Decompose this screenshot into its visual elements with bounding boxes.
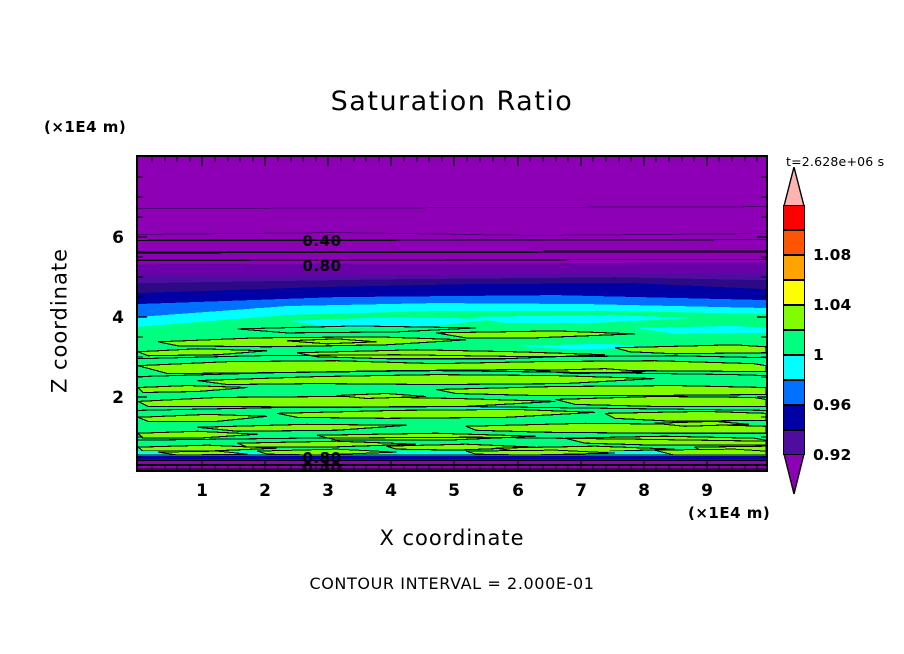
colorbar-cell-5[interactable] [783,330,805,355]
x-tick-label-9: 9 [697,481,717,501]
colorbar-bottom-cap [783,453,805,495]
x-tick-label-6: 6 [508,481,528,501]
colorbar-label-108: 1.08 [813,246,851,264]
colorbar-cell-8[interactable] [783,405,805,430]
colorbar-cell-4[interactable] [783,305,805,330]
x-tick-label-7: 7 [571,481,591,501]
x-axis-title: X coordinate [136,528,768,549]
y-axis-unit-label: (×1E4 m) [44,120,126,135]
x-tick-label-2: 2 [255,481,275,501]
contour-label-040-upper: 0.40 [302,232,341,250]
colorbar-cell-1[interactable] [783,230,805,255]
x-axis-unit-label: (×1E4 m) [688,506,770,521]
colorbar-cell-6[interactable] [783,355,805,380]
y-tick-label-4: 4 [108,308,128,328]
colorbar-label-100: 1 [813,346,824,364]
contour-interval-caption: CONTOUR INTERVAL = 2.000E-01 [0,576,904,592]
contour-field [138,157,766,472]
colorbar-cell-3[interactable] [783,280,805,305]
colorbar-label-104: 1.04 [813,296,851,314]
colorbar[interactable]: 1.08 1.04 1 0.96 0.92 [783,205,805,515]
colorbar-cell-0[interactable] [783,205,805,230]
colorbar-label-096: 0.96 [813,396,851,414]
y-tick-label-6: 6 [108,228,128,248]
x-tick-label-4: 4 [381,481,401,501]
colorbar-cell-9[interactable] [783,430,805,455]
x-tick-label-3: 3 [318,481,338,501]
colorbar-cell-2[interactable] [783,255,805,280]
x-tick-label-1: 1 [192,481,212,501]
colorbar-top-cap [783,167,805,207]
y-axis-title: Z coordinate [50,226,71,416]
x-tick-label-5: 5 [444,481,464,501]
colorbar-label-092: 0.92 [813,446,851,464]
contour-plot-figure: Saturation Ratio (×1E4 m) t=2.628e+06 s [0,0,904,654]
page-title: Saturation Ratio [0,88,904,115]
x-tick-label-8: 8 [634,481,654,501]
contour-label-040-lower: 0.40 [302,459,341,472]
plot-area: 0.40 0.80 0.80 0.40 [136,155,768,472]
colorbar-cell-7[interactable] [783,380,805,405]
contour-label-080-upper: 0.80 [302,257,341,275]
y-tick-label-2: 2 [108,388,128,408]
